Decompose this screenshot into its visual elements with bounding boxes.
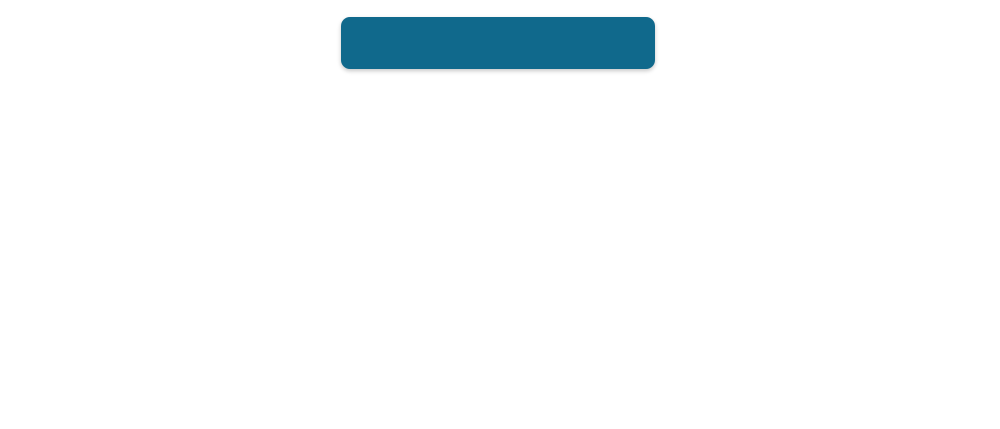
step-badge-01 (207, 143, 257, 193)
flow-row-top (55, 88, 944, 249)
step-badge-10 (112, 224, 164, 276)
flow-diagram-canvas (0, 0, 1000, 429)
step-badge-02 (390, 143, 440, 193)
flow-step-02[interactable] (232, 88, 415, 249)
step-badge-04 (760, 143, 810, 193)
process-flow-board (55, 88, 944, 411)
step-badge-03 (575, 143, 625, 193)
step-badge-08 (382, 310, 432, 360)
flow-step-03[interactable] (415, 88, 600, 249)
diagram-title-banner (341, 17, 655, 69)
flow-row-bottom (55, 250, 944, 411)
flow-step-09[interactable] (232, 250, 407, 411)
step-badge-07 (563, 310, 613, 360)
step-badge-06 (745, 310, 795, 360)
flow-step-04[interactable] (600, 88, 785, 249)
flow-step-07[interactable] (588, 250, 770, 411)
step-badge-09 (207, 310, 257, 360)
flow-step-08[interactable] (407, 250, 588, 411)
step-badge-05 (822, 224, 874, 276)
